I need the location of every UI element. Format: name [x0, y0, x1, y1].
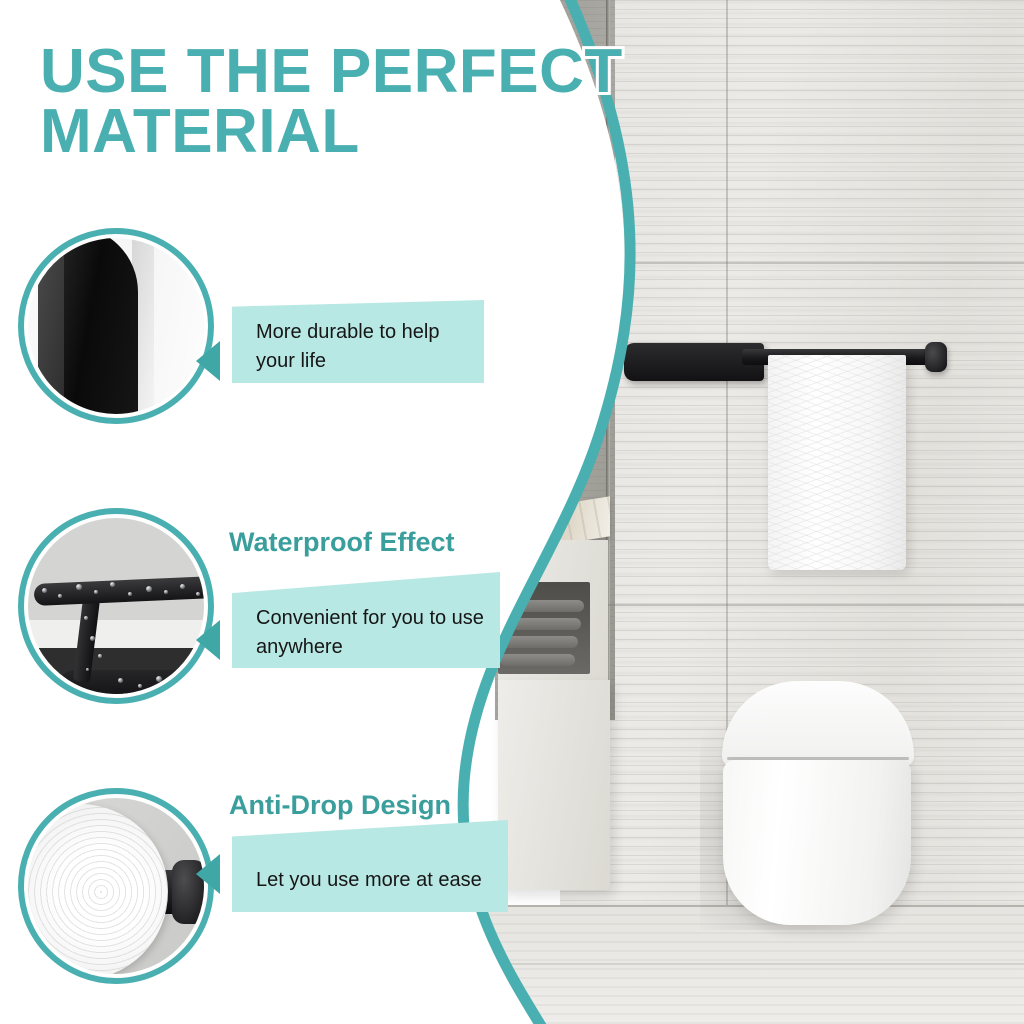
headline-line-2: MATERIAL [40, 102, 700, 162]
feature-3-image [18, 788, 214, 984]
faucet-base [455, 492, 501, 528]
diffuser-vase [546, 462, 574, 496]
vanity-lower-cabinet [498, 680, 610, 890]
decor-bowl [516, 482, 570, 504]
feature-2-heading: Waterproof Effect [229, 527, 455, 558]
feature-2-body: Convenient for you to use anywhere [256, 604, 486, 662]
feature-2-image [18, 508, 214, 704]
floor-seam [470, 963, 1024, 965]
feature-2-banner: Convenient for you to use anywhere [232, 572, 500, 668]
hanging-towel [768, 355, 906, 570]
infographic-page: USE THE PERFECT MATERIAL More durable to… [0, 0, 1024, 1024]
feature-1-body: More durable to help your life [256, 318, 466, 376]
feature-3-banner: Let you use more at ease [232, 820, 508, 912]
feature-1-banner: More durable to help your life [232, 300, 484, 383]
faucet [470, 400, 484, 520]
feature-1-image [18, 228, 214, 424]
headline-line-1: USE THE PERFECT [40, 37, 623, 106]
towel-bar-end-cap [925, 342, 947, 372]
feature-1-arrow-icon [196, 341, 220, 381]
mirror-frame [497, 195, 574, 432]
toilet-body [723, 760, 911, 925]
feature-2-arrow-icon [196, 620, 220, 660]
faucet-knob [493, 500, 515, 522]
wall-seam [560, 262, 1024, 264]
feature-3-heading: Anti-Drop Design [229, 790, 451, 821]
page-title: USE THE PERFECT MATERIAL [40, 42, 700, 161]
wall-seam [560, 604, 1024, 606]
feature-3-arrow-icon [196, 854, 220, 894]
feature-3-body: Let you use more at ease [256, 866, 496, 895]
